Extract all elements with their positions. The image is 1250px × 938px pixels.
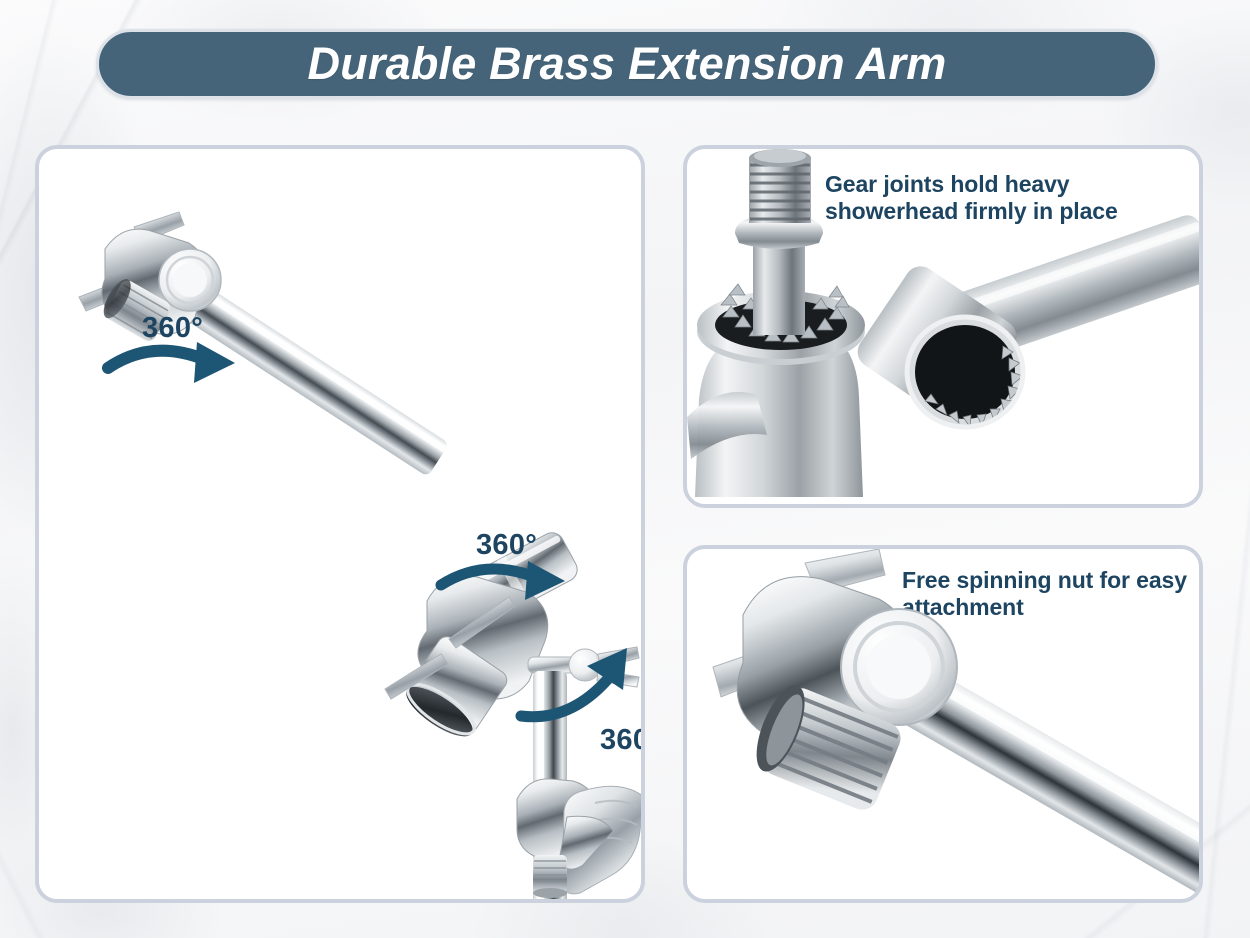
product-arm-illustration — [39, 149, 641, 899]
swivel-nut-illustration — [687, 549, 1199, 899]
curved-arrow-right-icon — [435, 561, 575, 611]
gear-joint-illustration — [687, 149, 1199, 504]
open-cylinder-gear — [852, 212, 1199, 428]
rotation-label-middle: 360° — [476, 529, 537, 562]
panel-free-spinning-nut: Free spinning nut for easy attachment — [683, 545, 1203, 903]
curved-arrow-up-right-icon — [515, 644, 645, 734]
rotation-label-top: 360° — [142, 312, 203, 345]
bottom-swivel-joint — [517, 779, 641, 898]
threaded-bolt-gear-socket — [687, 149, 865, 497]
title-banner: Durable Brass Extension Arm — [96, 29, 1158, 99]
page-title: Durable Brass Extension Arm — [308, 38, 947, 90]
panel-gear-joints: Gear joints hold heavy showerhead firmly… — [683, 145, 1203, 508]
panel-product-overview: 360° 360° 360° — [35, 145, 645, 903]
curved-arrow-right-icon — [102, 342, 242, 394]
